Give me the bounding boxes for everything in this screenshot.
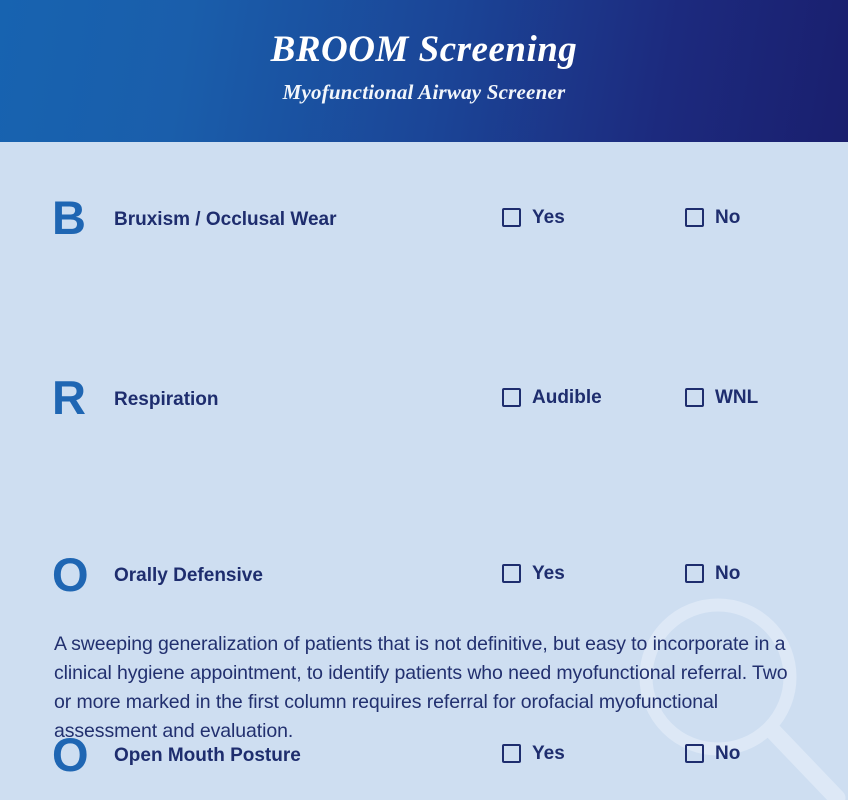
screening-rows: B Bruxism / Occlusal Wear Yes No R Respi… bbox=[0, 142, 848, 592]
option-label: Yes bbox=[532, 208, 565, 227]
row-label-open-mouth-posture: Open Mouth Posture bbox=[114, 746, 301, 765]
screening-row: R Respiration Audible WNL bbox=[0, 232, 848, 322]
option-label: No bbox=[715, 208, 740, 227]
screening-row: M Maxillary Transverse Width Narrow WNL bbox=[0, 502, 848, 592]
header-banner: BROOM Screening Myofunctional Airway Scr… bbox=[0, 0, 848, 142]
option-label: No bbox=[715, 744, 740, 763]
checkbox-icon[interactable] bbox=[502, 744, 521, 763]
page-title: BROOM Screening bbox=[0, 0, 848, 70]
option-bruxism-yes[interactable]: Yes bbox=[502, 208, 565, 227]
broom-screening-page: BROOM Screening Myofunctional Airway Scr… bbox=[0, 0, 848, 800]
screening-row: O Orally Defensive Yes No bbox=[0, 322, 848, 412]
option-label: Yes bbox=[532, 744, 565, 763]
screening-row: O Open Mouth Posture Yes No bbox=[0, 412, 848, 502]
option-bruxism-no[interactable]: No bbox=[685, 208, 740, 227]
screening-row: B Bruxism / Occlusal Wear Yes No bbox=[0, 142, 848, 232]
page-subtitle: Myofunctional Airway Screener bbox=[0, 70, 848, 103]
checkbox-icon[interactable] bbox=[685, 208, 704, 227]
checkbox-icon[interactable] bbox=[502, 208, 521, 227]
checkbox-icon[interactable] bbox=[685, 744, 704, 763]
explanatory-note: A sweeping generalization of patients th… bbox=[54, 630, 794, 746]
row-label-bruxism: Bruxism / Occlusal Wear bbox=[114, 210, 336, 229]
option-open-mouth-posture-no[interactable]: No bbox=[685, 744, 740, 763]
option-open-mouth-posture-yes[interactable]: Yes bbox=[502, 744, 565, 763]
